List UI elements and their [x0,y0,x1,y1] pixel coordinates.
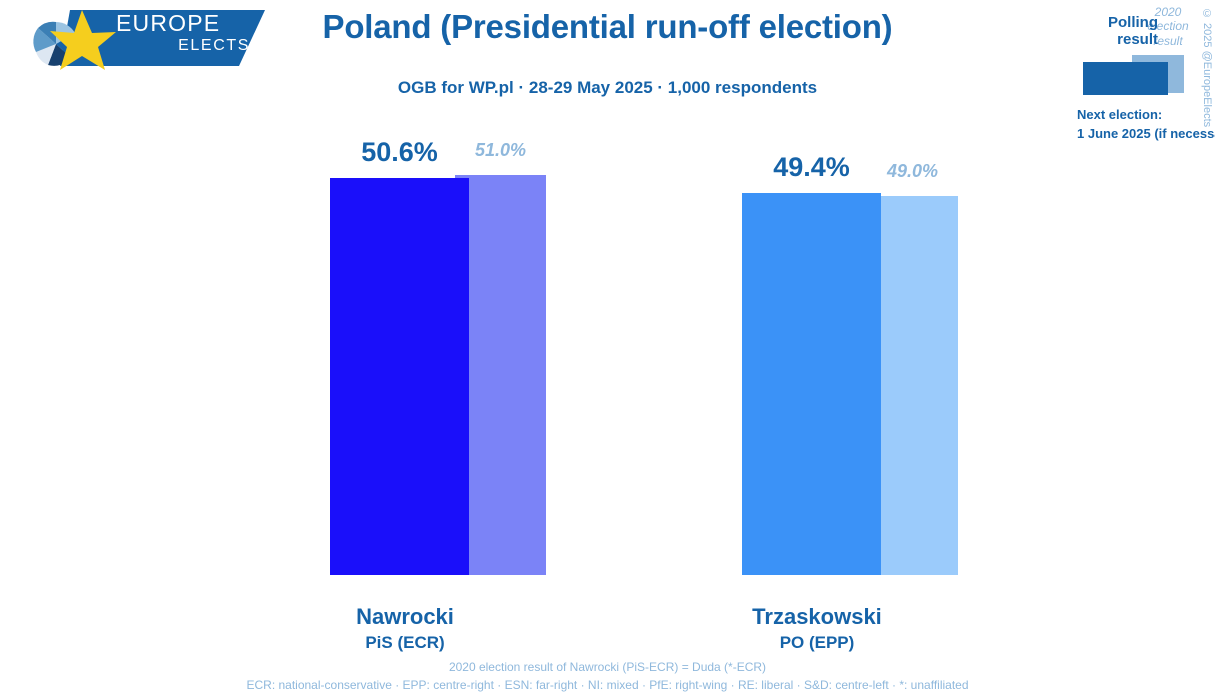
party-label-trzaskowski: PO (EPP) [702,633,932,653]
party-label-nawrocki: PiS (ECR) [290,633,520,653]
candidate-name-trzaskowski: Trzaskowski [702,604,932,630]
value-label-polling-nawrocki: 50.6% [330,137,469,168]
bar-polling-result-nawrocki [330,178,469,575]
value-label-polling-trzaskowski: 49.4% [742,152,881,183]
footnote-line-2: ECR: national-conservative · EPP: centre… [0,676,1215,694]
chart-plot-area: 51.0% 50.6% Nawrocki PiS (ECR) 49.0% 49.… [0,0,1215,700]
bar-polling-result-trzaskowski [742,193,881,575]
candidate-name-nawrocki: Nawrocki [290,604,520,630]
footnotes: 2020 election result of Nawrocki (PiS-EC… [0,658,1215,694]
bar-caption-trzaskowski: Trzaskowski PO (EPP) [702,604,932,653]
bar-caption-nawrocki: Nawrocki PiS (ECR) [290,604,520,653]
footnote-line-1: 2020 election result of Nawrocki (PiS-EC… [0,658,1215,676]
